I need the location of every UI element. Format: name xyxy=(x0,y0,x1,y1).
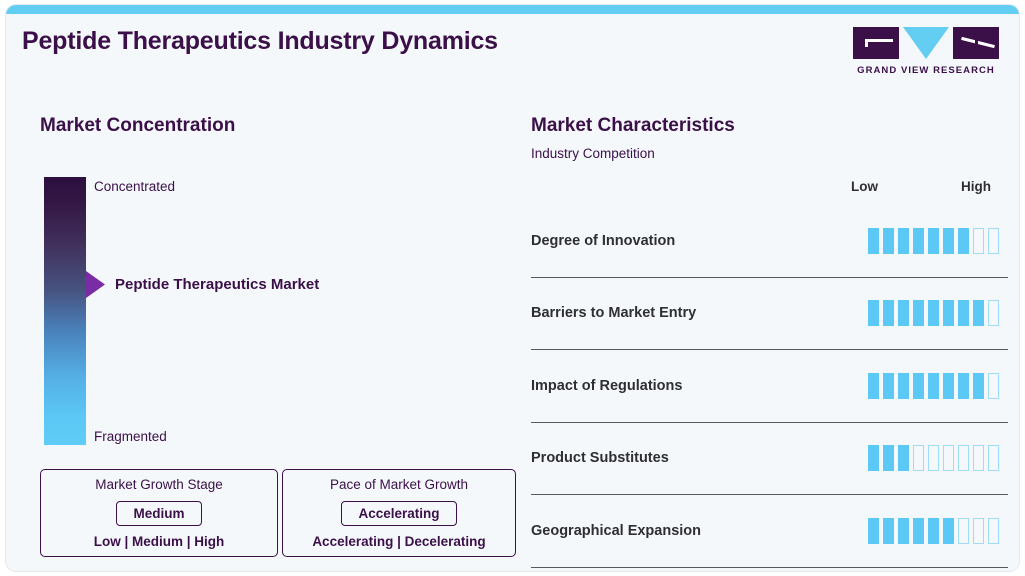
marker-arrow-icon xyxy=(86,271,105,298)
tick-filled xyxy=(898,373,909,399)
characteristics-list: Degree of InnovationBarriers to Market E… xyxy=(531,205,1008,568)
tick-filled xyxy=(898,228,909,254)
tick-filled xyxy=(958,228,969,254)
growth-stage-value: Medium xyxy=(116,501,201,526)
market-characteristics-subtitle: Industry Competition xyxy=(531,146,655,161)
characteristic-label: Geographical Expansion xyxy=(531,523,701,539)
tick-filled xyxy=(958,373,969,399)
characteristic-row: Product Substitutes xyxy=(531,423,1008,496)
concentration-gradient-scale xyxy=(44,177,86,445)
pace-of-market-growth-card: Pace of Market Growth Accelerating Accel… xyxy=(282,469,516,557)
growth-stage-title: Market Growth Stage xyxy=(95,477,223,492)
market-concentration-title: Market Concentration xyxy=(40,115,235,137)
infographic-canvas: Peptide Therapeutics Industry Dynamics G… xyxy=(6,5,1019,571)
tick-filled xyxy=(913,373,924,399)
rating-ticks xyxy=(868,445,999,471)
tick-empty xyxy=(913,445,924,471)
tick-filled xyxy=(898,518,909,544)
tick-filled xyxy=(913,300,924,326)
tick-filled xyxy=(928,518,939,544)
infographic-frame: Peptide Therapeutics Industry Dynamics G… xyxy=(0,0,1025,576)
market-growth-stage-card: Market Growth Stage Medium Low | Medium … xyxy=(40,469,278,557)
tick-filled xyxy=(868,300,879,326)
tick-filled xyxy=(898,445,909,471)
market-concentration-panel: Market Concentration Concentrated Fragme… xyxy=(6,5,526,571)
tick-filled xyxy=(913,228,924,254)
characteristic-label: Impact of Regulations xyxy=(531,378,682,394)
market-characteristics-title: Market Characteristics xyxy=(531,115,735,137)
pace-title: Pace of Market Growth xyxy=(330,477,468,492)
tick-filled xyxy=(883,228,894,254)
scale-label-low: Low xyxy=(851,179,878,194)
tick-filled xyxy=(868,445,879,471)
tick-empty xyxy=(973,518,984,544)
tick-filled xyxy=(943,228,954,254)
tick-empty xyxy=(943,445,954,471)
tick-filled xyxy=(883,445,894,471)
tick-filled xyxy=(973,373,984,399)
pace-value: Accelerating xyxy=(341,501,456,526)
tick-filled xyxy=(928,228,939,254)
growth-stage-scale: Low | Medium | High xyxy=(94,534,225,549)
tick-filled xyxy=(928,373,939,399)
tick-filled xyxy=(913,518,924,544)
tick-empty xyxy=(988,518,999,544)
tick-filled xyxy=(943,518,954,544)
characteristic-label: Degree of Innovation xyxy=(531,233,675,249)
tick-filled xyxy=(973,300,984,326)
tick-empty xyxy=(958,445,969,471)
tick-filled xyxy=(868,373,879,399)
tick-empty xyxy=(928,445,939,471)
scale-label-concentrated: Concentrated xyxy=(94,179,175,194)
tick-filled xyxy=(898,300,909,326)
rating-ticks xyxy=(868,373,999,399)
rating-ticks xyxy=(868,300,999,326)
characteristic-label: Product Substitutes xyxy=(531,450,669,466)
tick-filled xyxy=(868,228,879,254)
tick-empty xyxy=(988,300,999,326)
characteristic-row: Geographical Expansion xyxy=(531,495,1008,568)
tick-empty xyxy=(988,228,999,254)
scale-label-fragmented: Fragmented xyxy=(94,429,167,444)
tick-filled xyxy=(883,518,894,544)
tick-filled xyxy=(883,373,894,399)
tick-filled xyxy=(928,300,939,326)
scale-label-high: High xyxy=(961,179,991,194)
tick-filled xyxy=(958,300,969,326)
characteristic-row: Barriers to Market Entry xyxy=(531,278,1008,351)
tick-empty xyxy=(973,445,984,471)
tick-empty xyxy=(988,373,999,399)
pace-scale: Accelerating | Decelerating xyxy=(312,534,485,549)
characteristic-row: Degree of Innovation xyxy=(531,205,1008,278)
tick-empty xyxy=(973,228,984,254)
tick-filled xyxy=(868,518,879,544)
characteristic-row: Impact of Regulations xyxy=(531,350,1008,423)
market-characteristics-panel: Market Characteristics Industry Competit… xyxy=(526,5,1019,571)
tick-empty xyxy=(988,445,999,471)
rating-ticks xyxy=(868,518,999,544)
tick-filled xyxy=(943,300,954,326)
tick-empty xyxy=(958,518,969,544)
marker-label: Peptide Therapeutics Market xyxy=(115,276,319,293)
tick-filled xyxy=(883,300,894,326)
tick-filled xyxy=(943,373,954,399)
market-position-marker: Peptide Therapeutics Market xyxy=(86,271,319,298)
characteristic-label: Barriers to Market Entry xyxy=(531,305,696,321)
rating-ticks xyxy=(868,228,999,254)
